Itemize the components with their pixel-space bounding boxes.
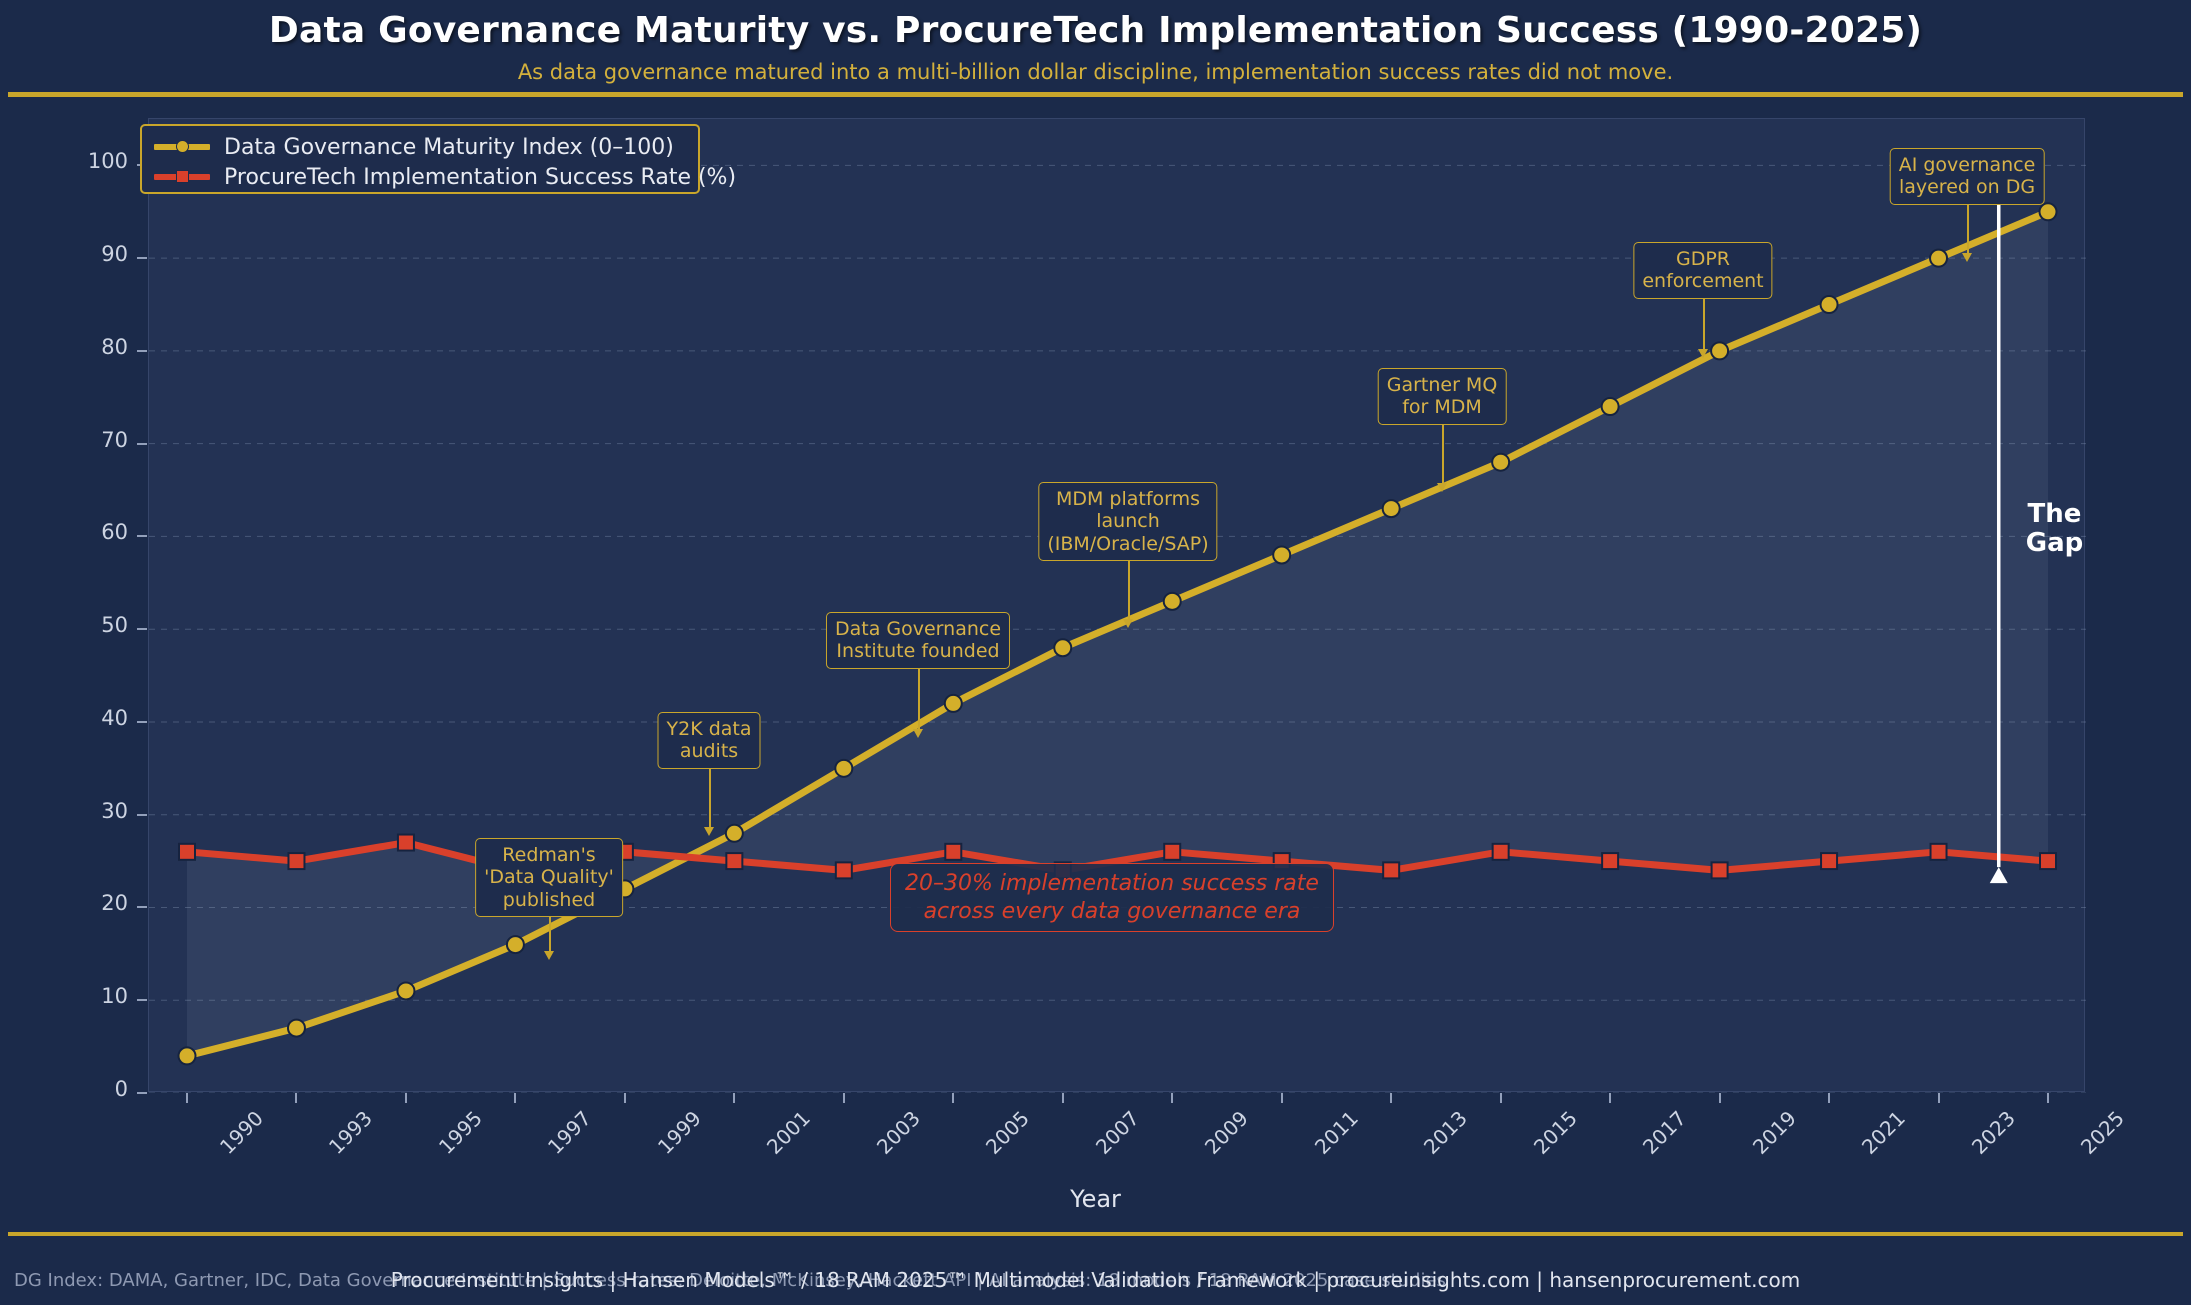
- chart-canvas: [149, 119, 2086, 1093]
- annotation-pointer-line: [1703, 299, 1705, 350]
- y-axis-tick: [137, 1092, 147, 1094]
- x-axis-tick: [1171, 1093, 1173, 1103]
- x-axis-tick-label: 2007: [1091, 1106, 1144, 1159]
- annotation-pointer-line: [1442, 425, 1444, 484]
- gap-arrow-head: [1990, 867, 2008, 883]
- data-point: [1712, 862, 1728, 878]
- y-axis-tick: [137, 350, 147, 352]
- x-axis-tick: [405, 1093, 407, 1103]
- data-point: [726, 853, 742, 869]
- y-axis-tick-label: 50: [38, 613, 128, 637]
- data-point: [507, 936, 524, 953]
- annotation-arrow-icon: [544, 951, 554, 960]
- data-point: [1383, 862, 1399, 878]
- data-point: [1711, 342, 1728, 359]
- x-axis-tick-label: 2021: [1857, 1106, 1910, 1159]
- x-axis-tick: [1062, 1093, 1064, 1103]
- data-point: [945, 695, 962, 712]
- data-point: [2040, 203, 2057, 220]
- y-axis-tick: [137, 628, 147, 630]
- chart-annotation: Data Governance Institute founded: [826, 612, 1010, 669]
- annotation-arrow-icon: [1123, 619, 1133, 628]
- x-axis-tick: [1281, 1093, 1283, 1103]
- gap-label: The Gap: [2026, 500, 2084, 557]
- x-axis-tick: [952, 1093, 954, 1103]
- y-axis-tick: [137, 999, 147, 1001]
- data-point: [1054, 639, 1071, 656]
- x-axis-tick-label: 1993: [324, 1106, 377, 1159]
- y-axis-tick: [137, 535, 147, 537]
- x-axis-tick-label: 2009: [1200, 1106, 1253, 1159]
- x-axis-tick: [514, 1093, 516, 1103]
- data-point: [726, 825, 743, 842]
- y-axis-tick-label: 90: [38, 242, 128, 266]
- legend-item-maturity[interactable]: Data Governance Maturity Index (0–100): [154, 132, 686, 162]
- y-axis-tick-label: 0: [38, 1077, 128, 1101]
- x-axis-tick-label: 2005: [981, 1106, 1034, 1159]
- x-axis-tick-label: 2023: [1966, 1106, 2019, 1159]
- x-axis-tick-label: 1995: [434, 1106, 487, 1159]
- chart-annotation: Gartner MQ for MDM: [1378, 368, 1507, 425]
- page-title: Data Governance Maturity vs. ProcureTech…: [0, 10, 2191, 51]
- data-point: [179, 844, 195, 860]
- data-point: [1821, 296, 1838, 313]
- x-axis-tick-label: 2003: [872, 1106, 925, 1159]
- x-axis-tick: [733, 1093, 735, 1103]
- y-axis-tick: [137, 721, 147, 723]
- footer-brand: Procurement Insights | Hansen Models™ / …: [0, 1268, 2191, 1292]
- y-axis-tick: [137, 257, 147, 259]
- x-axis-tick: [295, 1093, 297, 1103]
- data-point: [397, 982, 414, 999]
- annotation-pointer-line: [1128, 561, 1130, 620]
- y-axis-tick-label: 70: [38, 428, 128, 452]
- footer-divider: [8, 1232, 2183, 1236]
- x-axis-tick-label: 2015: [1529, 1106, 1582, 1159]
- x-axis-tick-label: 2011: [1310, 1106, 1363, 1159]
- y-axis-tick: [137, 906, 147, 908]
- data-point: [1493, 844, 1509, 860]
- data-point: [836, 862, 852, 878]
- data-point: [835, 760, 852, 777]
- x-axis-tick-label: 1999: [653, 1106, 706, 1159]
- annotation-arrow-icon: [1698, 349, 1708, 358]
- chart-annotation: Y2K data audits: [658, 712, 761, 769]
- chart-header: Data Governance Maturity vs. ProcureTech…: [0, 0, 2191, 96]
- legend-item-success[interactable]: ProcureTech Implementation Success Rate …: [154, 162, 686, 192]
- data-point: [1164, 593, 1181, 610]
- y-axis-tick-label: 10: [38, 984, 128, 1008]
- data-point: [1273, 546, 1290, 563]
- x-axis-tick: [2047, 1093, 2049, 1103]
- data-point: [1164, 844, 1180, 860]
- annotation-arrow-icon: [704, 827, 714, 836]
- x-axis-tick: [624, 1093, 626, 1103]
- legend-label-maturity: Data Governance Maturity Index (0–100): [224, 135, 674, 160]
- chart-annotation: MDM platforms launch (IBM/Oracle/SAP): [1038, 482, 1217, 561]
- y-axis-tick-label: 30: [38, 799, 128, 823]
- x-axis-tick: [1719, 1093, 1721, 1103]
- chart-annotation: Redman's 'Data Quality' published: [475, 838, 623, 917]
- data-point: [1602, 853, 1618, 869]
- header-divider: [8, 92, 2183, 97]
- data-point: [1383, 500, 1400, 517]
- y-axis-tick-label: 40: [38, 706, 128, 730]
- data-point: [179, 1047, 196, 1064]
- data-point: [288, 853, 304, 869]
- x-axis-tick-label: 2001: [762, 1106, 815, 1159]
- annotation-pointer-line: [1967, 205, 1969, 254]
- x-axis-tick-label: 1990: [215, 1106, 268, 1159]
- chart-subtitle: As data governance matured into a multi-…: [0, 60, 2191, 84]
- data-point: [1602, 398, 1619, 415]
- x-axis-tick: [1609, 1093, 1611, 1103]
- data-point: [1930, 250, 1947, 267]
- data-point: [1492, 454, 1509, 471]
- x-axis-tick-label: 2019: [1747, 1106, 1800, 1159]
- chart-annotation: AI governance layered on DG: [1890, 148, 2045, 205]
- annotation-arrow-icon: [1437, 483, 1447, 492]
- legend-label-success: ProcureTech Implementation Success Rate …: [224, 165, 736, 190]
- data-point: [288, 1020, 305, 1037]
- y-axis-tick-label: 100: [38, 149, 128, 173]
- y-axis-tick-label: 20: [38, 891, 128, 915]
- data-point: [398, 835, 414, 851]
- data-point: [1931, 844, 1947, 860]
- x-axis-tick-label: 2017: [1638, 1106, 1691, 1159]
- y-axis-tick: [137, 443, 147, 445]
- annotation-pointer-line: [549, 917, 551, 952]
- data-point: [2040, 853, 2056, 869]
- x-axis-tick: [186, 1093, 188, 1103]
- x-axis-tick: [1828, 1093, 1830, 1103]
- data-point: [1821, 853, 1837, 869]
- annotation-arrow-icon: [1962, 253, 1972, 262]
- legend-swatch-success-icon: [154, 166, 210, 188]
- chart-annotation: GDPR enforcement: [1633, 242, 1772, 299]
- legend-swatch-maturity-icon: [154, 136, 210, 158]
- data-point: [945, 844, 961, 860]
- annotation-pointer-line: [709, 769, 711, 828]
- y-axis-tick: [137, 814, 147, 816]
- x-axis-tick-label: 2013: [1419, 1106, 1472, 1159]
- y-axis-tick-label: 60: [38, 520, 128, 544]
- y-axis-tick-label: 80: [38, 335, 128, 359]
- annotation-pointer-line: [918, 669, 920, 730]
- chart-plot-area: [148, 118, 2085, 1092]
- x-axis-tick-label: 2025: [2076, 1106, 2129, 1159]
- x-axis-tick: [1500, 1093, 1502, 1103]
- x-axis-tick-label: 1997: [543, 1106, 596, 1159]
- x-axis-tick: [843, 1093, 845, 1103]
- annotation-arrow-icon: [913, 729, 923, 738]
- x-axis-title: Year: [0, 1185, 2191, 1213]
- chart-legend[interactable]: Data Governance Maturity Index (0–100) P…: [140, 124, 700, 194]
- x-axis-tick: [1390, 1093, 1392, 1103]
- flat-line-annotation: 20–30% implementation success rate acros…: [890, 863, 1334, 932]
- x-axis-tick: [1938, 1093, 1940, 1103]
